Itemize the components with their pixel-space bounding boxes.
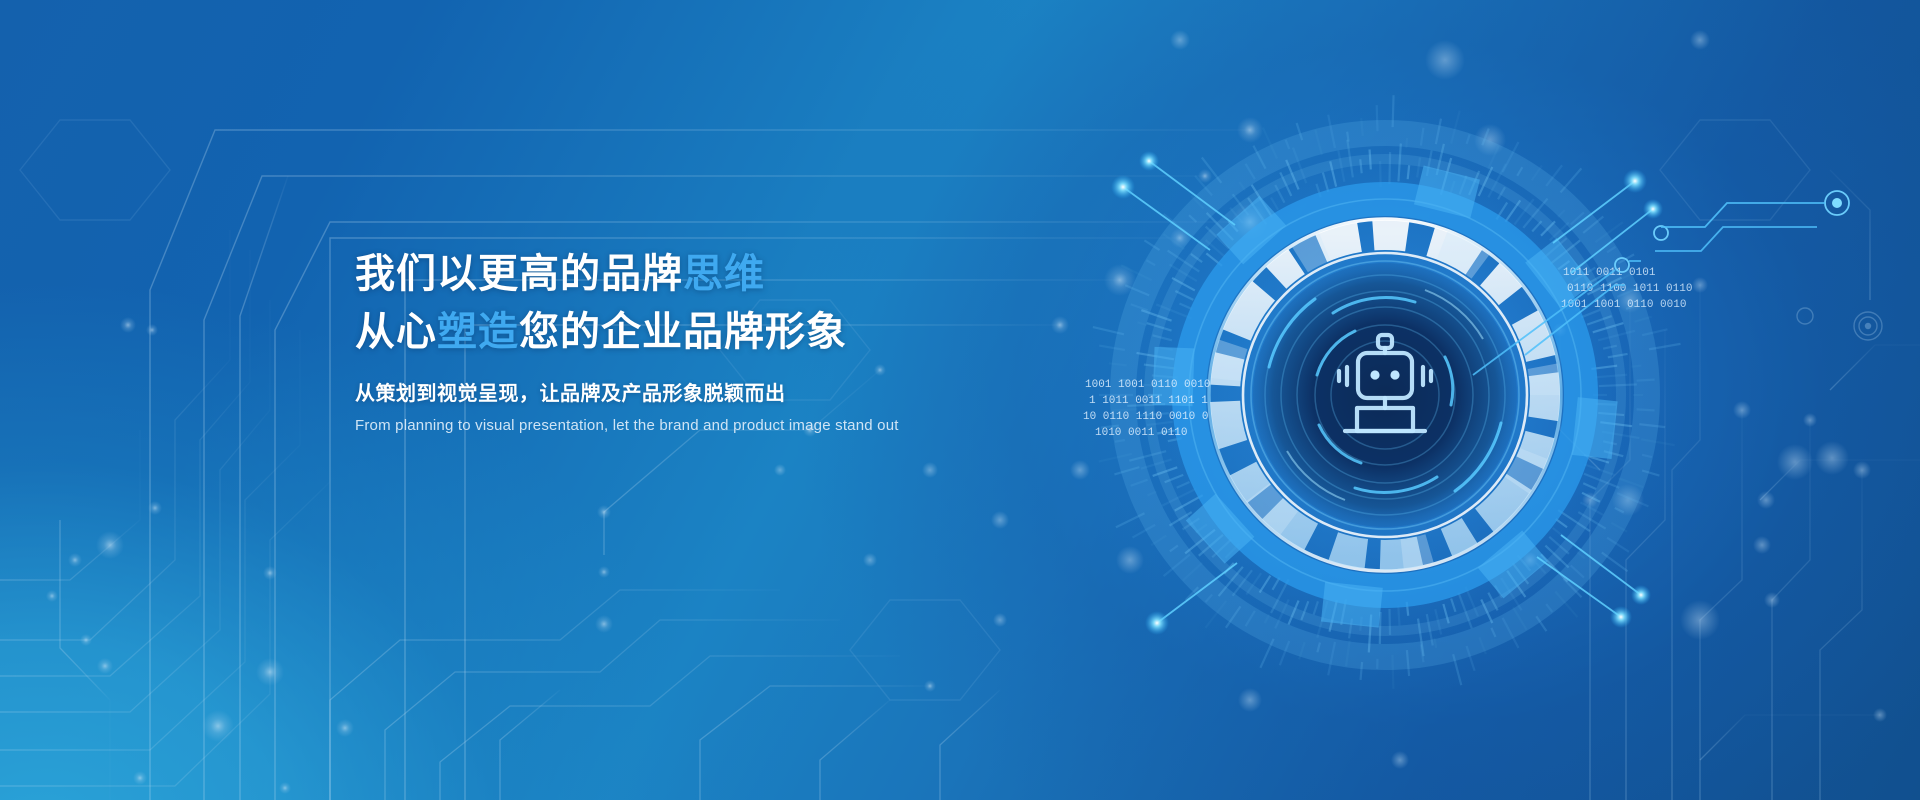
- subtitle-chinese: 从策划到视觉呈现，让品牌及产品形象脱颖而出: [355, 379, 1195, 409]
- headline-line-2-plain-1: 从心: [355, 310, 437, 354]
- headline-line-1-plain: 我们以更高的品牌: [355, 252, 683, 296]
- headline-line-2: 从心塑造您的企业品牌形象: [355, 303, 1195, 361]
- headline-line-1-accent: 思维: [683, 252, 765, 296]
- headline-line-1: 我们以更高的品牌思维: [355, 245, 1195, 303]
- headline-line-2-accent: 塑造: [437, 310, 519, 354]
- hero-banner: 1001 1001 0110 0010 1 1011 0011 1101 1 1…: [0, 0, 1920, 800]
- headline-line-2-plain-2: 您的企业品牌形象: [519, 310, 847, 354]
- hero-copy: 我们以更高的品牌思维 从心塑造您的企业品牌形象 从策划到视觉呈现，让品牌及产品形…: [355, 245, 1195, 437]
- subtitle-english: From planning to visual presentation, le…: [355, 415, 1195, 437]
- hud-antenna-traces: [1465, 165, 1885, 385]
